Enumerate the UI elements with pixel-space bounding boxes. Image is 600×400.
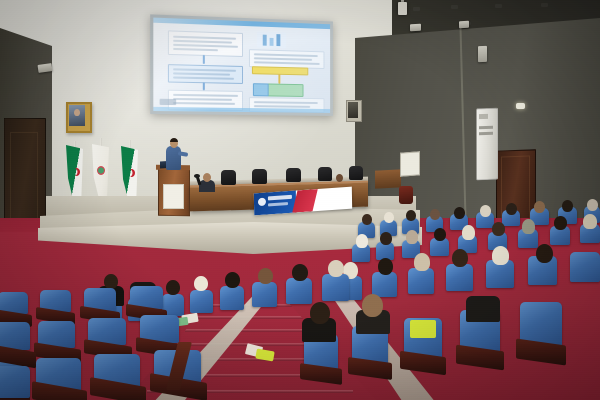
ac-vent bbox=[479, 126, 493, 129]
empty-seats-left-far[interactable] bbox=[0, 318, 80, 400]
whiteboard bbox=[400, 151, 420, 176]
projection-screen bbox=[150, 14, 333, 116]
panel-chair bbox=[252, 169, 267, 184]
flag-emblem-icon bbox=[97, 166, 105, 175]
panel-chair bbox=[349, 166, 363, 180]
hi-viz-vest bbox=[410, 320, 436, 338]
wall-speaker-icon bbox=[478, 46, 487, 62]
screen-glare bbox=[153, 18, 330, 113]
panel-chair bbox=[221, 170, 236, 185]
flag-crescent-icon bbox=[73, 168, 80, 176]
panelist-head bbox=[336, 174, 343, 182]
auditorium-photo: Speaker presenting at a podium in front … bbox=[0, 0, 600, 400]
presenter-hair bbox=[170, 138, 178, 142]
presenter-body bbox=[166, 146, 181, 170]
emergency-light-icon bbox=[516, 103, 525, 109]
portrait-face bbox=[74, 109, 80, 116]
side-table bbox=[375, 169, 401, 188]
ceiling-projector-icon bbox=[398, 2, 407, 15]
ac-vent bbox=[479, 132, 493, 135]
ac-display-panel bbox=[479, 114, 488, 119]
panelist-head bbox=[203, 173, 211, 182]
wall-speaker-icon bbox=[410, 24, 421, 32]
flag-crescent-icon bbox=[128, 169, 135, 177]
wall-speaker-icon bbox=[459, 21, 469, 29]
microphone-head bbox=[194, 174, 200, 178]
panel-chair bbox=[318, 167, 332, 181]
slide-surface bbox=[153, 18, 330, 113]
panel-chair bbox=[286, 168, 301, 182]
picture-image bbox=[348, 102, 358, 118]
podium-sign bbox=[163, 184, 184, 209]
